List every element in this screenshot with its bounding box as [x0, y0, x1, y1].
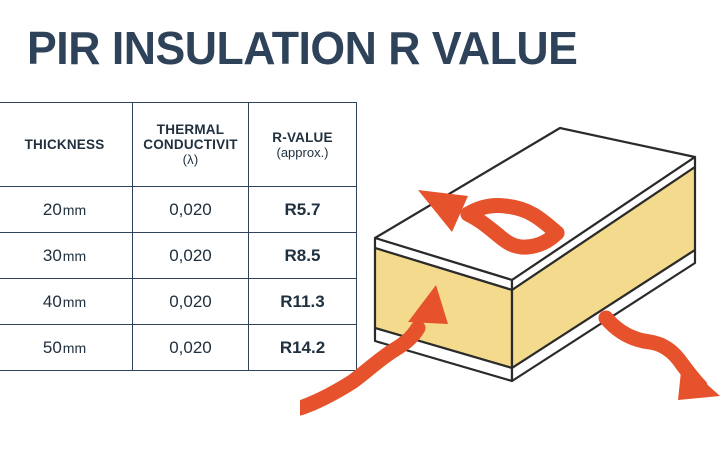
thickness-unit: mm	[63, 340, 86, 356]
column-header-conductivity-line1: THERMAL	[157, 122, 224, 137]
heat-arrow-right-out	[606, 318, 720, 400]
column-header-thickness: THICKNESS	[0, 103, 133, 187]
thickness-unit: mm	[63, 294, 86, 310]
thickness-value: 30	[43, 246, 62, 265]
cell-thickness: 30mm	[0, 233, 133, 279]
thickness-unit: mm	[63, 248, 86, 264]
cell-conductivity: 0,020	[133, 233, 249, 279]
cell-conductivity: 0,020	[133, 279, 249, 325]
column-header-conductivity-line2: CONDUCTIVIT	[143, 137, 237, 152]
thickness-value: 40	[43, 292, 62, 311]
pir-insulation-panel-illustration	[300, 100, 720, 420]
heat-arrow-right-out-head	[678, 362, 720, 400]
cell-conductivity: 0,020	[133, 325, 249, 371]
column-header-thickness-label: THICKNESS	[25, 137, 105, 152]
column-header-thermal-conductivity: THERMAL CONDUCTIVIT (λ)	[133, 103, 249, 187]
thickness-unit: mm	[63, 202, 86, 218]
cell-thickness: 20mm	[0, 187, 133, 233]
cell-thickness: 50mm	[0, 325, 133, 371]
lambda-symbol: (λ)	[133, 152, 248, 167]
cell-conductivity: 0,020	[133, 187, 249, 233]
cell-thickness: 40mm	[0, 279, 133, 325]
page-title: PIR INSULATION R VALUE	[27, 22, 577, 74]
thickness-value: 20	[43, 200, 62, 219]
thickness-value: 50	[43, 338, 62, 357]
